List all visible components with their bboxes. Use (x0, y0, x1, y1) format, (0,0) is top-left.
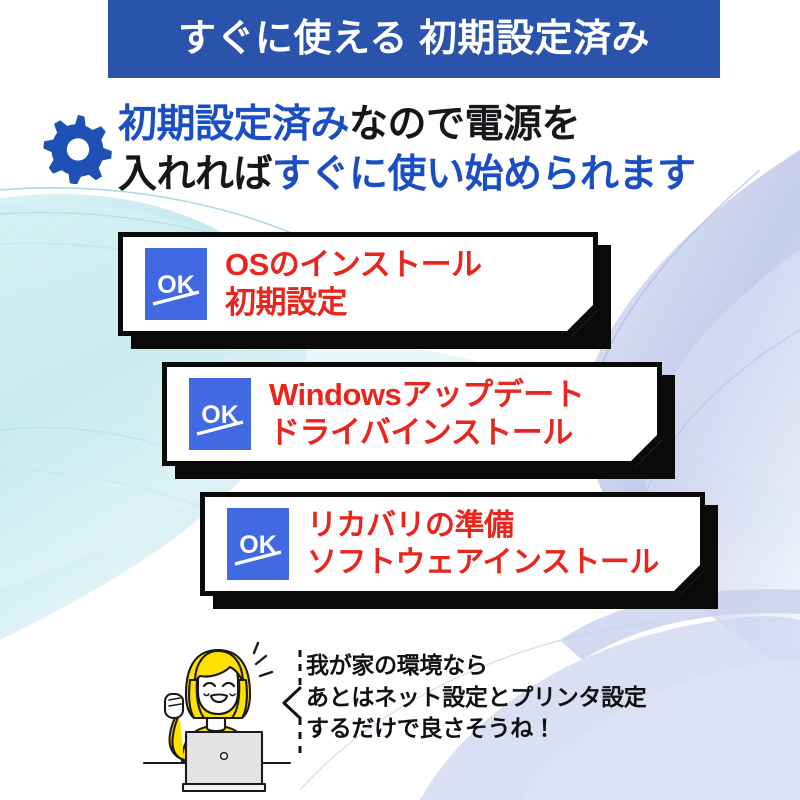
box-face: OK Windowsアップデート ドライバインストール (162, 362, 662, 466)
feature-text: OSのインストール 初期設定 (225, 246, 593, 323)
headline-rest-1: なので電源を (349, 103, 580, 146)
box-face: OK OSのインストール 初期設定 (118, 232, 598, 336)
headline-highlight-2: すぐに使い始められます (272, 153, 696, 196)
header-banner: すぐに使える 初期設定済み (108, 0, 720, 78)
headline-line-2: 入れればすぐに使い始められます (118, 150, 778, 200)
headline-line-1: 初期設定済みなので電源を (118, 100, 778, 150)
ok-check-icon: OK (227, 508, 289, 580)
feature-line-2: ドライバインストール (269, 414, 651, 452)
feature-line-1: リカバリの準備 (307, 507, 694, 544)
feature-line-2: ソフトウェアインストール (307, 544, 694, 581)
feature-box: OK リカバリの準備 ソフトウェアインストール (200, 492, 705, 596)
box-face: OK リカバリの準備 ソフトウェアインストール (200, 492, 705, 596)
speech-line-1: 我が家の環境なら (306, 650, 647, 682)
banner-title: すぐに使える 初期設定済み (178, 20, 650, 58)
speech-line-3: するだけで良さそうね！ (306, 713, 647, 745)
feature-box: OK OSのインストール 初期設定 (118, 232, 598, 336)
headline: 初期設定済みなので電源を 入れればすぐに使い始められます (118, 100, 778, 200)
feature-line-1: Windowsアップデート (269, 376, 651, 414)
speech-line-2: あとはネット設定とプリンタ設定 (306, 682, 647, 714)
ok-check-icon: OK (189, 378, 251, 450)
infographic-canvas: すぐに使える 初期設定済み 初期設定済みなので電源を 入れればすぐに使い始められ… (0, 0, 800, 800)
feature-box: OK Windowsアップデート ドライバインストール (162, 362, 662, 466)
headline-rest-2: 入れれば (118, 153, 272, 196)
gear-icon (42, 112, 114, 184)
dashed-speech-bracket-icon (278, 648, 308, 758)
ok-check-icon: OK (145, 248, 207, 320)
speech-text: 我が家の環境なら あとはネット設定とプリンタ設定 するだけで良さそうね！ (306, 650, 647, 745)
woman-with-laptop-illustration (138, 634, 298, 800)
headline-highlight-1: 初期設定済み (118, 103, 349, 146)
feature-text: Windowsアップデート ドライバインストール (269, 376, 657, 453)
feature-line-1: OSのインストール (225, 246, 587, 284)
feature-line-2: 初期設定 (225, 284, 587, 322)
feature-text: リカバリの準備 ソフトウェアインストール (307, 507, 700, 581)
